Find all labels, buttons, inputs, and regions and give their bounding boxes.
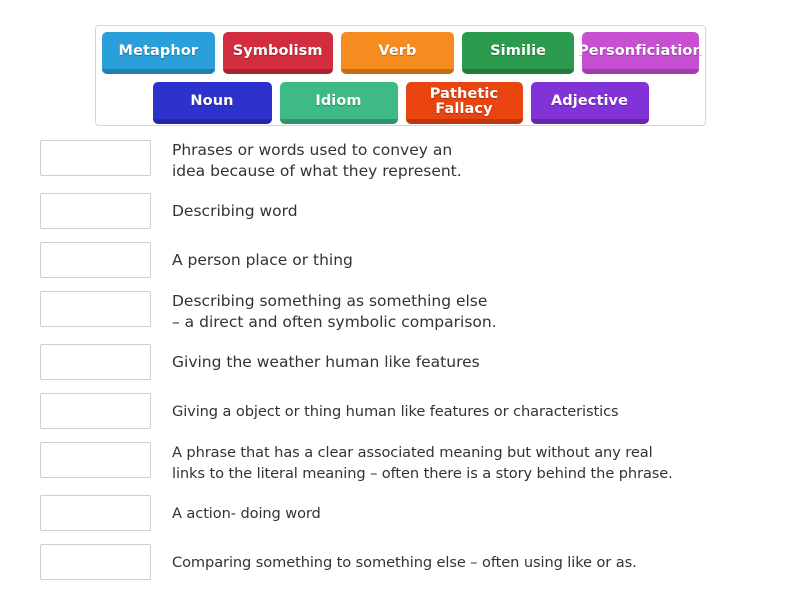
answer-row: A person place or thing [40, 242, 780, 280]
answer-row: Giving the weather human like features [40, 344, 780, 382]
word-tile-similie[interactable]: Similie [462, 32, 574, 74]
answer-drop-box[interactable] [40, 140, 151, 176]
word-tile-label: Symbolism [233, 44, 323, 59]
answer-definition-text: A person place or thing [172, 242, 780, 271]
answer-drop-box[interactable] [40, 242, 151, 278]
word-tile-metaphor[interactable]: Metaphor [102, 32, 215, 74]
word-tile-label: Personficiation [578, 44, 703, 59]
answer-drop-box[interactable] [40, 544, 151, 580]
word-tile-label: Metaphor [119, 44, 199, 59]
answer-row: A phrase that has a clear associated mea… [40, 442, 780, 484]
answer-definition-text: A phrase that has a clear associated mea… [172, 442, 780, 484]
answer-drop-box[interactable] [40, 393, 151, 429]
word-tile-adjective[interactable]: Adjective [531, 82, 649, 124]
answer-definition-text: Giving a object or thing human like feat… [172, 393, 780, 422]
answer-definition-text: Describing something as something else –… [172, 291, 780, 333]
word-tile-label: Idiom [315, 94, 361, 109]
answer-definition-text: Giving the weather human like features [172, 344, 780, 373]
answer-definition-text: Comparing something to something else – … [172, 544, 780, 573]
word-tile-label: Verb [378, 44, 416, 59]
answer-drop-box[interactable] [40, 495, 151, 531]
word-tile-personficiation[interactable]: Personficiation [582, 32, 699, 74]
answer-row: Describing something as something else –… [40, 291, 780, 333]
answer-definition-text: Phrases or words used to convey an idea … [172, 140, 780, 182]
answer-row: Comparing something to something else – … [40, 544, 780, 582]
word-bank-row-2: NounIdiomPathetic FallacyAdjective [96, 79, 705, 127]
word-tile-verb[interactable]: Verb [341, 32, 455, 74]
answer-definition-text: Describing word [172, 193, 780, 222]
answer-definition-text: A action- doing word [172, 495, 780, 524]
word-bank-row-1: MetaphorSymbolismVerbSimiliePersonficiat… [96, 29, 705, 77]
word-tile-noun[interactable]: Noun [153, 82, 272, 124]
answer-row: Phrases or words used to convey an idea … [40, 140, 780, 182]
word-tile-label: Noun [190, 94, 233, 109]
answer-row: Describing word [40, 193, 780, 231]
answer-row: Giving a object or thing human like feat… [40, 393, 780, 431]
answer-row: A action- doing word [40, 495, 780, 533]
word-tile-pathetic-fallacy[interactable]: Pathetic Fallacy [406, 82, 523, 124]
word-tile-label: Adjective [551, 94, 628, 109]
word-tile-label: Pathetic Fallacy [430, 87, 498, 117]
answer-drop-box[interactable] [40, 442, 151, 478]
word-tile-label: Similie [490, 44, 546, 59]
answer-drop-box[interactable] [40, 291, 151, 327]
answer-list: Phrases or words used to convey an idea … [40, 140, 780, 593]
answer-drop-box[interactable] [40, 193, 151, 229]
word-tile-idiom[interactable]: Idiom [280, 82, 398, 124]
word-bank-panel: MetaphorSymbolismVerbSimiliePersonficiat… [95, 25, 706, 126]
word-tile-symbolism[interactable]: Symbolism [223, 32, 333, 74]
answer-drop-box[interactable] [40, 344, 151, 380]
